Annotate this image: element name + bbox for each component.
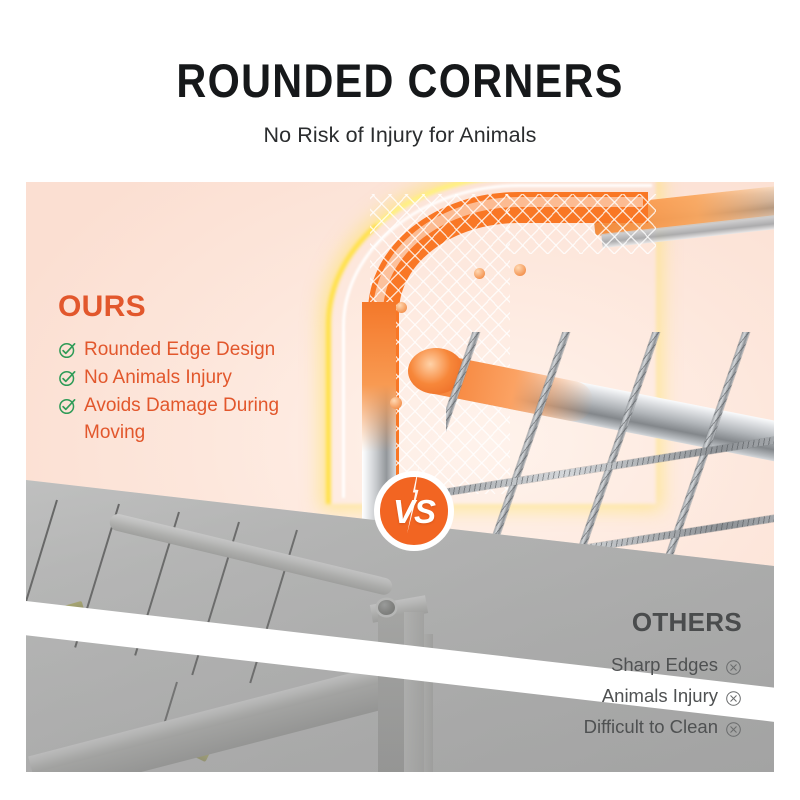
others-list-item: Sharp Edges [584,651,742,679]
others-section: OTHERS Sharp Edges Animals Injury [584,607,742,744]
ours-heading: OURS [58,290,279,324]
comparison-panel: OURS Rounded Edge Design [26,182,774,772]
mesh-netting-top [506,194,656,254]
vs-badge: VS [374,471,454,551]
others-item-label: Animals Injury [602,682,718,710]
ours-feature-list: Rounded Edge Design No Animals Injury [58,337,279,447]
clamp-ring [390,397,402,409]
ours-item-label: No Animals Injury [84,365,232,392]
others-list-item: Animals Injury [584,682,742,710]
clamp-ring [474,268,485,279]
others-item-label: Sharp Edges [611,651,718,679]
ours-list-item: No Animals Injury [58,365,279,392]
others-heading: OTHERS [584,607,742,638]
others-item-label: Difficult to Clean [584,713,718,741]
ours-list-item: Avoids Damage During Moving [58,393,279,447]
check-circle-icon [58,337,77,364]
page-title: ROUNDED CORNERS [48,0,752,104]
check-circle-icon [58,365,77,392]
page-subtitle: No Risk of Injury for Animals [0,104,800,148]
ours-item-label: Avoids Damage During Moving [84,393,279,447]
check-circle-icon [58,393,77,420]
ours-section: OURS Rounded Edge Design [58,290,279,448]
x-circle-icon [725,687,742,704]
clamp-ring [396,302,407,313]
clamp-ring [514,264,526,276]
ours-list-item: Rounded Edge Design [58,337,279,364]
others-list-item: Difficult to Clean [584,713,742,741]
vertical-post-highlight [362,302,396,452]
infographic-page: ROUNDED CORNERS No Risk of Injury for An… [0,0,800,800]
ours-item-label: Rounded Edge Design [84,337,275,364]
header: ROUNDED CORNERS No Risk of Injury for An… [0,0,800,148]
x-circle-icon [725,718,742,735]
x-circle-icon [725,656,742,673]
